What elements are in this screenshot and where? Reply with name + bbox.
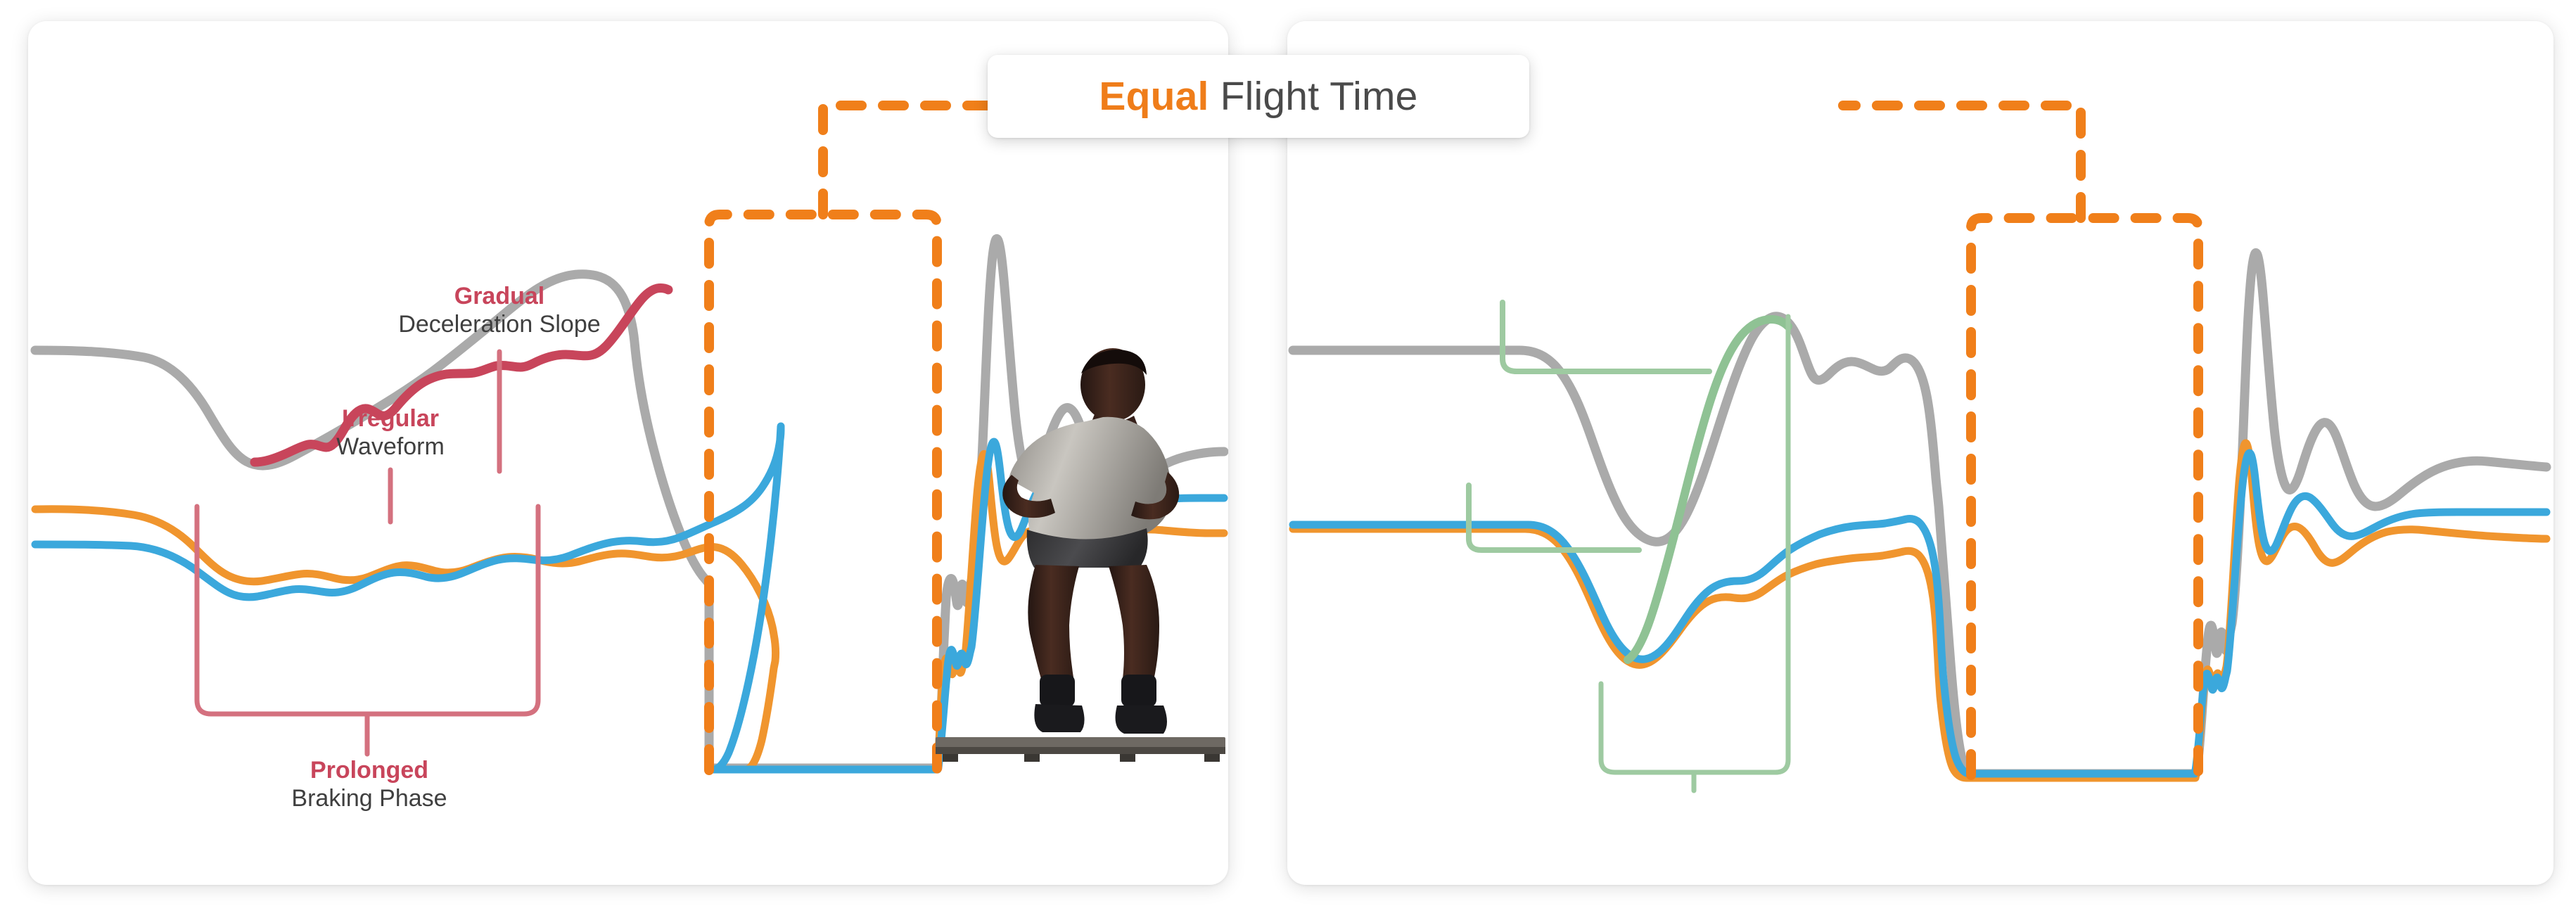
badge-text: Equal Flight Time <box>1099 73 1417 120</box>
annotation-gradual-deceleration-slope: Gradual Deceleration Slope <box>348 283 651 339</box>
comparison-figure: Gradual Deceleration Slope Irregular Wav… <box>0 0 2576 913</box>
equal-flight-time-badge: Equal Flight Time <box>988 55 1529 138</box>
badge-rest: Flight Time <box>1209 74 1418 119</box>
steep-slope-leader <box>1503 302 1709 371</box>
athlete-fatigued-crouched <box>936 341 1228 763</box>
shortened-braking-bracket <box>1601 684 1788 772</box>
flight-time-box-right <box>1971 218 2198 775</box>
badge-keyword: Equal <box>1099 74 1209 119</box>
flight-time-connector-right <box>1843 106 2081 218</box>
panel-fatigued: Gradual Deceleration Slope Irregular Wav… <box>28 21 1228 885</box>
panel-fresh: Steep Deceleration Slope Smooth Waveform… <box>1287 21 2553 885</box>
force-trace-chart-right <box>1287 21 2553 885</box>
annotation-irregular-waveform: Irregular Waveform <box>288 405 492 461</box>
flight-time-box-left <box>709 215 937 770</box>
prolonged-braking-bracket <box>197 506 538 714</box>
annotation-prolonged-braking-phase: Prolonged Braking Phase <box>253 757 485 813</box>
total-force-curve-gray <box>1293 253 2546 774</box>
